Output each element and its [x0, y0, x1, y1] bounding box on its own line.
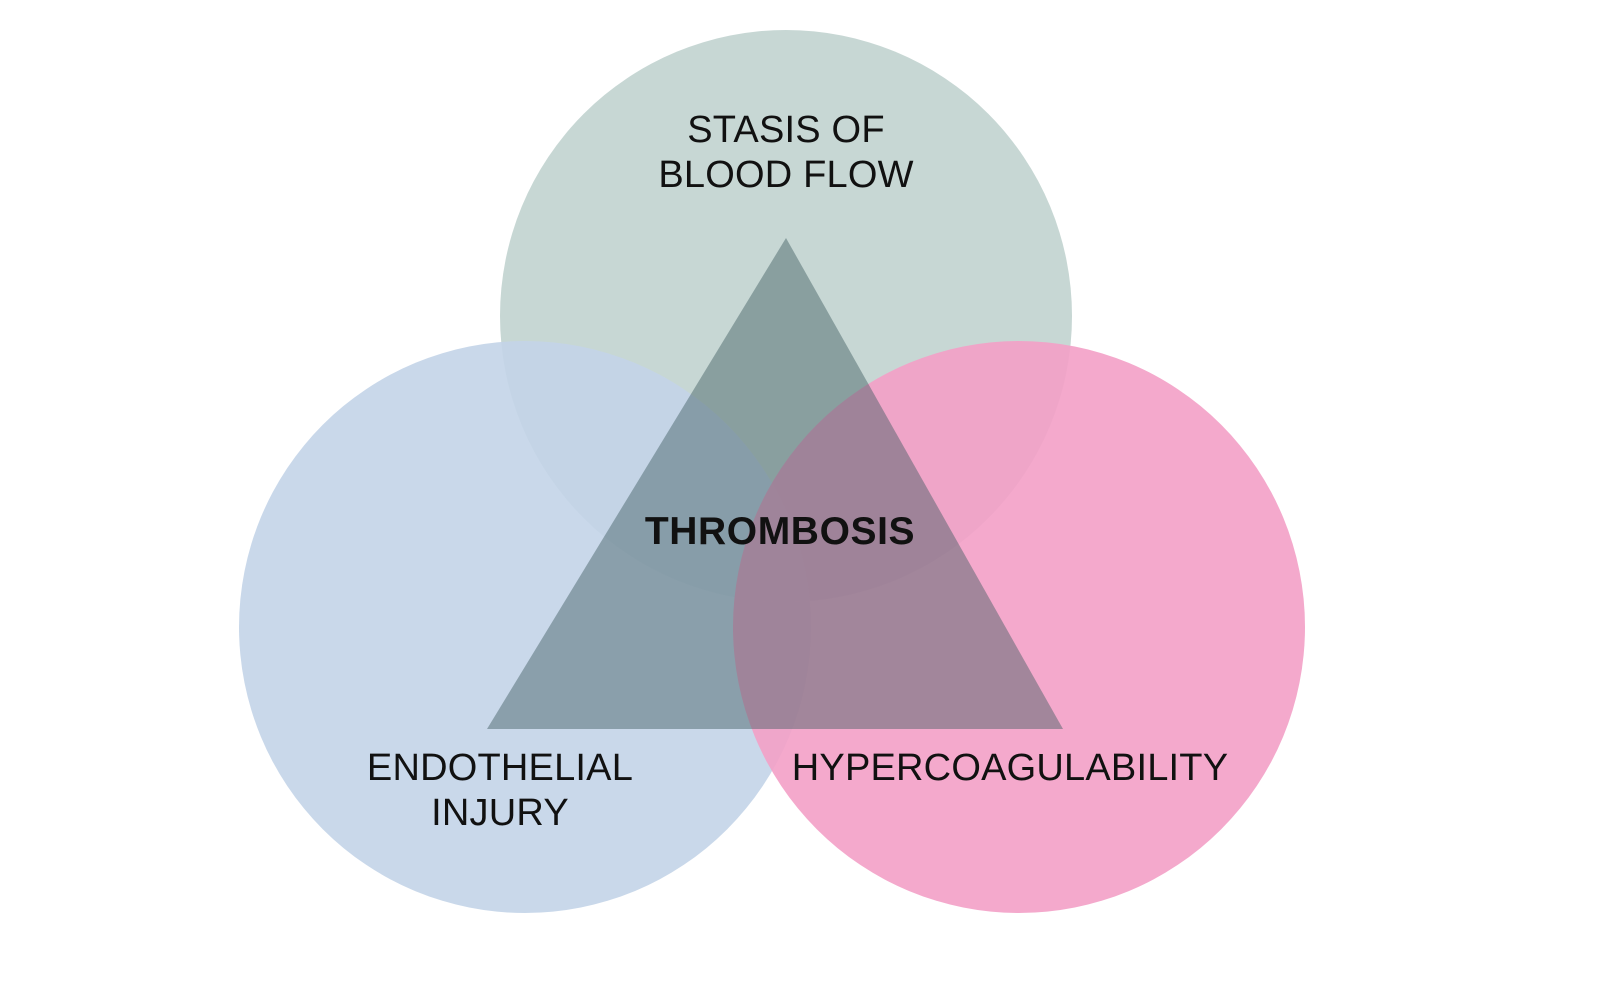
venn-diagram-graphic: [0, 0, 1600, 981]
venn-diagram-canvas: STASIS OF BLOOD FLOW ENDOTHELIAL INJURY …: [0, 0, 1600, 981]
